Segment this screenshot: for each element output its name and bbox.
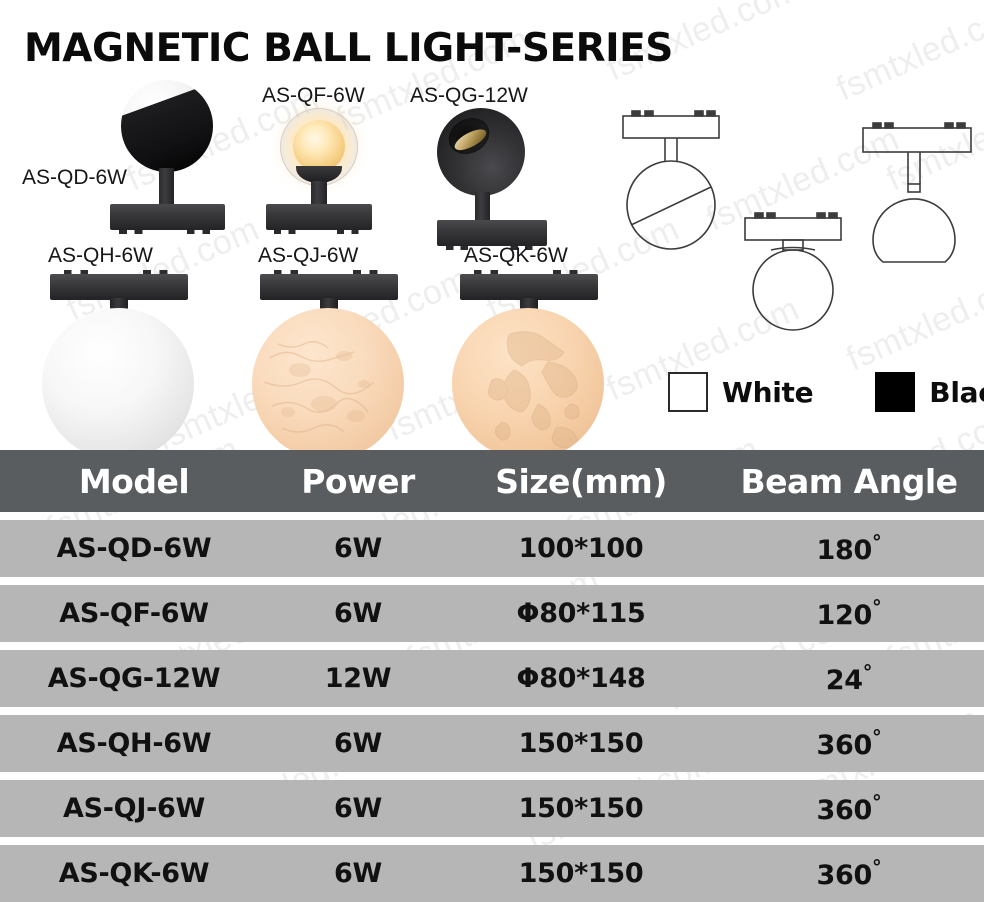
spec-table: Model Power Size(mm) Beam Angle AS-QD-6W…: [0, 450, 984, 902]
table-body: AS-QD-6W6W100*100180°AS-QF-6W6WΦ80*11512…: [0, 520, 984, 902]
product-label-as-qg-12w: AS-QG-12W: [410, 84, 528, 108]
qk-magnetic-base: [460, 274, 598, 300]
tech-drawing-half-ball: [623, 111, 719, 249]
page-title: MAGNETIC BALL LIGHT-SERIES: [24, 26, 673, 71]
tech-drawing-pendant: [863, 123, 971, 262]
product-spec-sheet: fsmtxled.comfsmtxled.comfsmtxled.comfsmt…: [0, 0, 984, 853]
qg-aperture: [443, 111, 496, 161]
cell-beam-angle: 180°: [714, 531, 984, 566]
cell-size: 100*100: [448, 533, 714, 564]
cell-power: 6W: [268, 728, 448, 759]
cell-model: AS-QD-6W: [0, 533, 268, 564]
qh-magnetic-base: [50, 274, 188, 300]
product-as-qj-6w: [252, 274, 432, 434]
cell-size: 150*150: [448, 728, 714, 759]
qk-globe-earth: [452, 308, 604, 460]
earth-continents-texture: [452, 308, 604, 460]
cell-beam-angle: 360°: [714, 791, 984, 826]
qg-brass-reflector: [452, 125, 490, 154]
qd-black-cut: [121, 81, 213, 172]
legend-label-black: Black: [929, 376, 984, 409]
moon-texture: [252, 308, 404, 460]
column-header-model: Model: [0, 462, 268, 501]
cell-power: 12W: [268, 663, 448, 694]
table-row: AS-QD-6W6W100*100180°: [0, 520, 984, 577]
product-label-as-qd-6w: AS-QD-6W: [22, 166, 127, 190]
product-as-qf-6w: [258, 108, 398, 230]
qf-magnetic-base: [266, 204, 372, 230]
swatch-white: [668, 372, 708, 412]
watermark-text: fsmtxled.com: [831, 0, 984, 109]
color-legend: White Black: [668, 372, 984, 412]
product-label-as-qh-6w: AS-QH-6W: [48, 244, 153, 268]
qh-globe-white: [42, 308, 194, 460]
table-row: AS-QH-6W6W150*150360°: [0, 715, 984, 772]
product-as-qg-12w: [437, 108, 577, 230]
cell-model: AS-QF-6W: [0, 598, 268, 629]
cell-size: 150*150: [448, 858, 714, 889]
cell-model: AS-QH-6W: [0, 728, 268, 759]
product-as-qh-6w: [42, 274, 222, 434]
cell-size: Φ80*115: [448, 598, 714, 629]
cell-model: AS-QK-6W: [0, 858, 268, 889]
table-row: AS-QG-12W12WΦ80*14824°: [0, 650, 984, 707]
cell-model: AS-QG-12W: [0, 663, 268, 694]
cell-size: Φ80*148: [448, 663, 714, 694]
product-label-as-qj-6w: AS-QJ-6W: [258, 244, 358, 268]
qg-magnetic-base: [437, 220, 547, 246]
technical-drawings: [605, 100, 984, 340]
product-label-as-qf-6w: AS-QF-6W: [262, 84, 365, 108]
column-header-beam-angle: Beam Angle: [714, 462, 984, 501]
product-label-as-qk-6w: AS-QK-6W: [464, 244, 568, 268]
cell-beam-angle: 24°: [714, 661, 984, 696]
cell-power: 6W: [268, 533, 448, 564]
column-header-power: Power: [268, 462, 448, 501]
swatch-black: [875, 372, 915, 412]
table-header-row: Model Power Size(mm) Beam Angle: [0, 450, 984, 512]
qg-ball-head: [437, 108, 525, 196]
column-header-size: Size(mm): [448, 462, 714, 501]
cell-power: 6W: [268, 793, 448, 824]
cell-model: AS-QJ-6W: [0, 793, 268, 824]
table-row: AS-QF-6W6WΦ80*115120°: [0, 585, 984, 642]
cell-size: 150*150: [448, 793, 714, 824]
qj-globe-moon: [252, 308, 404, 460]
product-as-qd-6w: [95, 80, 255, 230]
qj-magnetic-base: [260, 274, 398, 300]
qd-stem: [159, 168, 174, 208]
table-row: AS-QK-6W6W150*150360°: [0, 845, 984, 902]
cell-power: 6W: [268, 598, 448, 629]
qd-ball-head: [121, 80, 213, 172]
qd-magnetic-base: [110, 204, 225, 230]
qf-warm-bulb: [293, 120, 345, 172]
tech-drawing-globe: [745, 213, 841, 330]
table-row: AS-QJ-6W6W150*150360°: [0, 780, 984, 837]
cell-beam-angle: 120°: [714, 596, 984, 631]
legend-label-white: White: [722, 376, 813, 409]
cell-beam-angle: 360°: [714, 726, 984, 761]
cell-power: 6W: [268, 858, 448, 889]
cell-beam-angle: 360°: [714, 856, 984, 891]
